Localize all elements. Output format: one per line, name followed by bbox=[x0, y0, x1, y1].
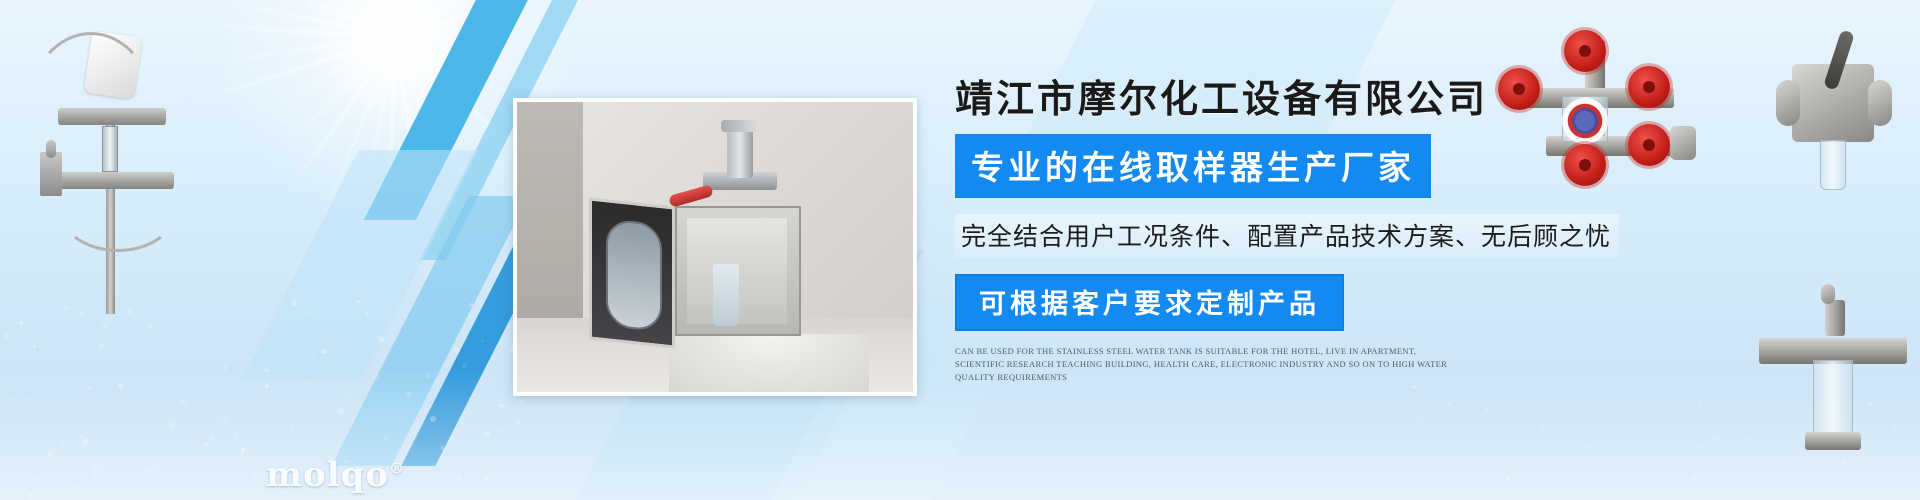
water-droplet bbox=[1655, 494, 1656, 495]
water-droplet bbox=[499, 403, 504, 408]
water-droplet bbox=[454, 347, 460, 353]
water-droplet bbox=[1567, 483, 1569, 485]
water-droplet bbox=[1586, 446, 1590, 450]
water-droplet bbox=[1696, 446, 1699, 449]
sun-ray bbox=[396, 37, 534, 72]
water-droplet bbox=[1717, 486, 1722, 491]
water-droplet bbox=[74, 388, 75, 389]
valve-cap bbox=[721, 120, 759, 132]
bypass-tube bbox=[28, 32, 154, 182]
company-name: 靖江市摩尔化工设备有限公司 bbox=[955, 78, 1685, 120]
water-droplet bbox=[478, 380, 483, 385]
water-droplet bbox=[321, 349, 326, 354]
water-droplet bbox=[462, 363, 467, 368]
sight-glass-tube bbox=[1813, 360, 1853, 436]
water-droplet bbox=[1741, 424, 1743, 426]
water-droplet bbox=[123, 383, 124, 384]
sun-ray bbox=[396, 37, 492, 39]
sun-ray bbox=[290, 0, 397, 39]
inlet-pipe bbox=[1825, 300, 1845, 336]
water-droplet bbox=[292, 300, 298, 306]
water-droplet bbox=[441, 446, 445, 450]
water-droplet bbox=[437, 354, 438, 355]
water-droplet bbox=[48, 453, 53, 458]
water-droplet bbox=[121, 462, 124, 465]
water-droplet bbox=[88, 386, 91, 389]
water-droplet bbox=[477, 440, 479, 442]
water-droplet bbox=[350, 364, 352, 366]
water-droplet bbox=[291, 424, 294, 427]
water-droplet bbox=[78, 458, 81, 461]
handwheel-icon bbox=[1564, 30, 1606, 72]
water-droplet bbox=[1686, 420, 1687, 421]
sun-ray bbox=[215, 0, 397, 40]
water-droplet bbox=[345, 392, 349, 396]
water-droplet bbox=[82, 438, 88, 444]
water-droplet bbox=[155, 466, 159, 470]
water-droplet bbox=[180, 338, 182, 340]
water-droplet bbox=[249, 358, 251, 360]
water-droplet bbox=[375, 375, 380, 380]
sun-ray bbox=[274, 0, 397, 40]
water-droplet bbox=[1591, 443, 1593, 445]
water-droplet bbox=[450, 437, 453, 440]
sun-ray bbox=[394, 38, 422, 203]
sun-ray bbox=[394, 37, 486, 216]
water-droplet bbox=[1877, 488, 1881, 492]
watermark-logo: molqo® bbox=[266, 455, 405, 495]
sun-ray bbox=[182, 22, 396, 40]
sun-ray bbox=[395, 37, 463, 127]
water-droplet bbox=[167, 448, 168, 449]
water-droplet bbox=[1415, 417, 1418, 420]
water-droplet bbox=[95, 477, 97, 479]
sun-ray bbox=[395, 0, 561, 39]
water-droplet bbox=[216, 464, 218, 466]
water-droplet bbox=[131, 361, 133, 363]
valve-flange-right bbox=[1868, 80, 1892, 126]
water-droplet bbox=[1713, 439, 1717, 443]
water-droplet bbox=[19, 321, 23, 325]
water-droplet bbox=[430, 416, 436, 422]
water-droplet bbox=[30, 477, 36, 483]
english-description: Can be used for the stainless steel wate… bbox=[955, 345, 1455, 385]
sun-ray bbox=[377, 0, 397, 38]
water-droplet bbox=[1448, 402, 1451, 405]
water-droplet bbox=[222, 418, 227, 423]
water-droplet bbox=[238, 470, 241, 473]
water-droplet bbox=[3, 333, 9, 339]
water-droplet bbox=[204, 443, 208, 447]
water-droplet bbox=[473, 374, 474, 375]
water-droplet bbox=[364, 426, 365, 427]
water-droplet bbox=[118, 383, 124, 389]
valve-body bbox=[727, 130, 753, 178]
water-droplet bbox=[519, 399, 523, 403]
water-droplet bbox=[378, 336, 384, 342]
water-droplet bbox=[1731, 412, 1733, 414]
left-product-image bbox=[10, 22, 200, 312]
promotional-banner: 靖江市摩尔化工设备有限公司 专业的在线取样器生产厂家 完全结合用户工况条件、配置… bbox=[0, 0, 1920, 500]
water-droplet bbox=[469, 303, 473, 307]
water-droplet bbox=[181, 399, 186, 404]
water-droplet bbox=[219, 427, 220, 428]
water-droplet bbox=[1477, 426, 1478, 427]
water-droplet bbox=[74, 485, 77, 488]
water-droplet bbox=[516, 421, 521, 426]
water-droplet bbox=[233, 433, 238, 438]
water-droplet bbox=[385, 374, 386, 375]
sun-ray bbox=[395, 38, 469, 252]
sun-ray bbox=[316, 38, 397, 235]
water-droplet bbox=[241, 448, 246, 453]
water-droplet bbox=[8, 362, 9, 363]
center-product-photo bbox=[513, 98, 917, 396]
diagonal-stripe bbox=[241, 150, 478, 380]
sun-ray bbox=[395, 37, 493, 103]
water-droplet bbox=[1600, 413, 1602, 415]
water-droplet bbox=[102, 324, 106, 328]
water-droplet bbox=[125, 488, 128, 491]
sun-ray bbox=[189, 36, 397, 104]
water-droplet bbox=[1503, 457, 1505, 459]
water-droplet bbox=[84, 351, 88, 355]
sun-ray bbox=[395, 0, 547, 39]
water-droplet bbox=[457, 475, 462, 480]
water-droplet bbox=[92, 473, 96, 477]
sun-ray bbox=[364, 38, 397, 199]
water-droplet bbox=[42, 460, 43, 461]
water-droplet bbox=[264, 368, 269, 373]
water-droplet bbox=[170, 423, 175, 428]
water-droplet bbox=[1875, 489, 1879, 493]
water-droplet bbox=[94, 463, 100, 469]
sun-ray bbox=[394, 0, 448, 39]
water-droplet bbox=[406, 392, 411, 397]
water-droplet bbox=[425, 372, 431, 378]
water-droplet bbox=[312, 357, 314, 359]
water-droplet bbox=[167, 423, 170, 426]
water-droplet bbox=[223, 365, 229, 371]
water-droplet bbox=[418, 482, 421, 485]
sun-ray bbox=[259, 0, 398, 39]
sun-ray bbox=[183, 37, 396, 67]
photo-podium bbox=[669, 334, 869, 392]
water-droplet bbox=[1498, 388, 1500, 390]
tertiary-slogan-badge: 可根据客户要求定制产品 bbox=[955, 274, 1344, 331]
water-droplet bbox=[148, 323, 153, 328]
water-droplet bbox=[33, 345, 37, 349]
water-droplet bbox=[493, 367, 495, 369]
water-droplet bbox=[356, 300, 359, 303]
water-droplet bbox=[78, 434, 83, 439]
water-droplet bbox=[1705, 471, 1709, 475]
water-droplet bbox=[1433, 471, 1436, 474]
cabinet-door bbox=[589, 197, 675, 348]
water-droplet bbox=[457, 350, 459, 352]
water-droplet bbox=[1522, 391, 1524, 393]
sun-ray bbox=[309, 0, 398, 39]
right-upper-product-image bbox=[1772, 36, 1902, 196]
water-droplet bbox=[318, 310, 321, 313]
sun-ray bbox=[396, 7, 609, 39]
water-droplet bbox=[298, 345, 300, 347]
drain-glass bbox=[1820, 140, 1846, 190]
water-droplet bbox=[1595, 470, 1600, 475]
top-fitting bbox=[1821, 284, 1835, 304]
water-droplet bbox=[1472, 397, 1473, 398]
sun-ray bbox=[395, 0, 553, 40]
water-droplet bbox=[102, 466, 106, 470]
sun-ray bbox=[289, 37, 397, 191]
water-droplet bbox=[1566, 427, 1568, 429]
water-droplet bbox=[1699, 403, 1702, 406]
water-droplet bbox=[1651, 481, 1652, 482]
water-droplet bbox=[76, 342, 78, 344]
water-droplet bbox=[484, 431, 490, 437]
water-droplet bbox=[1485, 408, 1488, 411]
sun-ray bbox=[394, 0, 467, 39]
water-droplet bbox=[365, 312, 369, 316]
water-droplet bbox=[159, 335, 162, 338]
sun-ray bbox=[291, 37, 397, 141]
water-droplet bbox=[1412, 385, 1416, 389]
water-droplet bbox=[362, 390, 364, 392]
sun-ray bbox=[395, 0, 407, 38]
water-droplet bbox=[251, 472, 257, 478]
right-bottom-product-image bbox=[1755, 300, 1915, 475]
water-droplet bbox=[515, 438, 517, 440]
water-droplet bbox=[1747, 437, 1752, 442]
water-droplet bbox=[10, 331, 14, 335]
water-droplet bbox=[265, 384, 269, 388]
sun-ray bbox=[395, 0, 567, 39]
water-droplet bbox=[1542, 425, 1545, 428]
water-droplet bbox=[1596, 392, 1599, 395]
secondary-slogan: 完全结合用户工况条件、配置产品技术方案、无后顾之忧 bbox=[955, 214, 1619, 258]
primary-slogan-badge: 专业的在线取样器生产厂家 bbox=[955, 134, 1431, 198]
water-droplet bbox=[25, 396, 27, 398]
water-droplet bbox=[1472, 428, 1474, 430]
watermark-text: molqo bbox=[266, 455, 389, 495]
text-block: 靖江市摩尔化工设备有限公司 专业的在线取样器生产厂家 完全结合用户工况条件、配置… bbox=[955, 78, 1685, 384]
water-droplet bbox=[1691, 394, 1694, 397]
water-droplet bbox=[434, 385, 436, 387]
water-droplet bbox=[166, 492, 169, 495]
water-droplet bbox=[284, 390, 285, 391]
water-droplet bbox=[209, 442, 211, 444]
water-droplet bbox=[1692, 476, 1697, 481]
water-droplet bbox=[146, 467, 152, 473]
photo-background bbox=[517, 102, 913, 392]
sun-ray bbox=[323, 37, 397, 96]
sun-ray bbox=[333, 0, 397, 38]
water-droplet bbox=[28, 494, 32, 498]
sample-bottle bbox=[713, 264, 739, 326]
water-droplet bbox=[442, 406, 443, 407]
sun-ray bbox=[395, 37, 521, 155]
sun-ray bbox=[243, 0, 396, 39]
water-droplet bbox=[435, 488, 437, 490]
sun-ray bbox=[395, 0, 452, 39]
water-droplet bbox=[210, 436, 214, 440]
water-droplet bbox=[60, 442, 64, 446]
water-droplet bbox=[91, 466, 97, 472]
water-droplet bbox=[484, 476, 489, 481]
water-droplet bbox=[16, 465, 19, 468]
water-droplet bbox=[297, 424, 299, 426]
water-droplet bbox=[1653, 457, 1656, 460]
water-droplet bbox=[113, 371, 117, 375]
water-droplet bbox=[11, 396, 16, 401]
door-window bbox=[606, 218, 662, 332]
water-droplet bbox=[93, 432, 94, 433]
water-droplet bbox=[308, 382, 311, 385]
sun-ray bbox=[395, 37, 505, 87]
water-droplet bbox=[384, 438, 387, 441]
water-droplet bbox=[1749, 383, 1754, 388]
registered-mark-icon: ® bbox=[389, 460, 405, 478]
water-droplet bbox=[338, 408, 344, 414]
water-droplet bbox=[99, 344, 104, 349]
diagonal-stripe bbox=[331, 196, 529, 466]
sun-ray bbox=[385, 38, 397, 250]
outlet-flange bbox=[1805, 432, 1861, 450]
water-droplet bbox=[1580, 397, 1582, 399]
water-droplet bbox=[482, 340, 484, 342]
top-valve-assembly bbox=[703, 124, 777, 210]
water-droplet bbox=[1574, 449, 1578, 453]
valve-flange-left bbox=[1776, 80, 1800, 126]
water-droplet bbox=[303, 310, 309, 316]
water-droplet bbox=[497, 427, 503, 433]
return-tube bbox=[60, 172, 176, 252]
sun-ray bbox=[267, 37, 397, 112]
water-droplet bbox=[1713, 437, 1716, 440]
water-droplet bbox=[1506, 476, 1511, 481]
